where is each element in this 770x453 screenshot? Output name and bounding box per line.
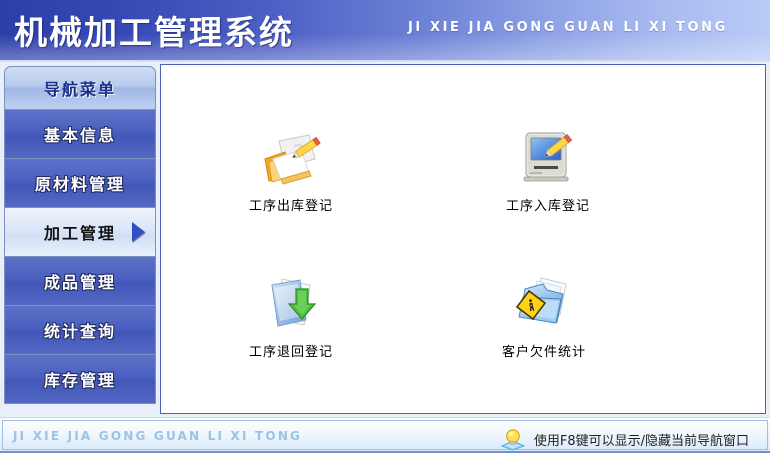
sidebar-item-label: 基本信息 [44,122,116,146]
shortcut-label: 工序出库登记 [216,195,366,214]
sidebar-item-basic-info[interactable]: 基本信息 [4,110,156,159]
status-tip-text: 使用F8键可以显示/隐藏当前导航窗口 [534,430,749,449]
sidebar-item-processing[interactable]: 加工管理 [4,208,156,257]
sidebar-item-statistics[interactable]: 统计查询 [4,306,156,355]
shortcut-inbound-registration[interactable]: 工序入库登记 [473,127,623,214]
shortcut-customer-arrears[interactable]: 客户欠件统计 [469,273,619,360]
status-bar: JI XIE JIA GONG GUAN LI XI TONG 使用F8键可以显… [0,417,770,453]
sidebar-item-inventory[interactable]: 库存管理 [4,355,156,404]
status-bar-pinyin: JI XIE JIA GONG GUAN LI XI TONG [13,429,302,443]
sidebar-item-label: 原材料管理 [35,171,125,195]
shortcut-return-registration[interactable]: 工序退回登记 [216,273,366,360]
application-window: 机械加工管理系统 JI XIE JIA GONG GUAN LI XI TONG… [0,0,770,453]
navigation-sidebar: 导航菜单 基本信息 原材料管理 加工管理 成品管理 统计查询 库存管理 [4,66,156,414]
sidebar-item-finished-goods[interactable]: 成品管理 [4,257,156,306]
sidebar-item-raw-material[interactable]: 原材料管理 [4,159,156,208]
main-body: 导航菜单 基本信息 原材料管理 加工管理 成品管理 统计查询 库存管理 [0,62,770,417]
document-down-arrow-icon [216,273,366,335]
sidebar-item-label: 成品管理 [44,269,116,293]
status-bar-inner: JI XIE JIA GONG GUAN LI XI TONG 使用F8键可以显… [2,420,768,450]
status-bar-tip: 使用F8键可以显示/隐藏当前导航窗口 [500,427,749,451]
chevron-right-icon [132,222,145,242]
app-header: 机械加工管理系统 JI XIE JIA GONG GUAN LI XI TONG [0,0,770,60]
app-title-pinyin: JI XIE JIA GONG GUAN LI XI TONG [408,20,728,35]
shortcut-label: 客户欠件统计 [469,341,619,360]
content-panel: ? [160,64,766,414]
computer-pencil-icon [473,127,623,189]
shortcut-icon-grid: ? [161,65,765,413]
notebook-pencil-icon: ? [216,127,366,189]
folder-warning-sign-icon [469,273,619,335]
lightbulb-icon [500,427,526,451]
sidebar-header: 导航菜单 [4,66,156,110]
shortcut-outbound-registration[interactable]: ? [216,127,366,214]
sidebar-header-label: 导航菜单 [44,76,116,100]
sidebar-item-label: 加工管理 [44,220,116,244]
sidebar-item-label: 统计查询 [44,318,116,342]
sidebar-item-label: 库存管理 [44,367,116,391]
app-title: 机械加工管理系统 [14,6,294,54]
shortcut-label: 工序退回登记 [216,341,366,360]
shortcut-label: 工序入库登记 [473,195,623,214]
